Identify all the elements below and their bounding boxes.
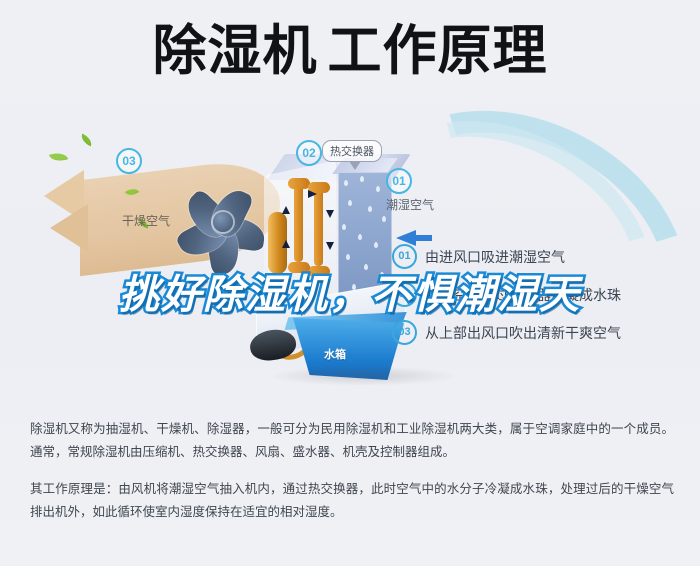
condensation-droplets (338, 172, 392, 300)
copper-pipe (314, 188, 323, 266)
flow-arrow-up-icon (282, 206, 290, 214)
flow-arrow-up-icon (282, 240, 290, 248)
step-text: 由进风口吸进潮湿空气 (425, 247, 565, 267)
machine-floor-shadow (268, 366, 458, 386)
leaf-icon (49, 150, 68, 165)
poster-root: 除湿机工作原理 (0, 0, 700, 566)
step-number-badge: 03 (392, 320, 417, 345)
flow-arrow-down-icon (326, 242, 334, 250)
water-tank-label: 水箱 (324, 346, 346, 362)
leaf-icon (79, 134, 94, 147)
copper-pipe-bend (308, 266, 330, 277)
intake-arrow-tail (414, 235, 432, 241)
moist-air-label: 潮湿空气 (386, 196, 434, 213)
step-number-badge: 01 (392, 244, 417, 269)
copper-pipe (294, 184, 303, 262)
diagram-badge-03: 03 (116, 148, 142, 174)
diagram-badge-02: 02 (296, 140, 322, 166)
steps-list: 01 由进风口吸进潮湿空气 02 潮湿空气经过蒸发器冷凝成水珠 03 从上部出风… (392, 244, 692, 358)
step-text: 潮湿空气经过蒸发器冷凝成水珠 (425, 285, 621, 305)
page-title-text: 除湿机工作原理 (153, 24, 548, 78)
heat-exchanger-callout: 热交换器 (322, 140, 382, 162)
fan-hub (213, 212, 233, 232)
title-part-2: 工作原理 (328, 21, 548, 81)
page-title: 除湿机工作原理 (0, 24, 700, 78)
step-text: 从上部出风口吹出清新干爽空气 (425, 323, 621, 343)
body-paragraph-2: 其工作原理是：由风机将潮湿空气抽入机内，通过热交换器，此时空气中的水分子冷凝成水… (30, 478, 674, 524)
list-item: 03 从上部出风口吹出清新干爽空气 (392, 320, 692, 345)
step-number-badge: 02 (392, 282, 417, 307)
flow-arrow-right-icon (308, 190, 317, 198)
title-part-1: 除湿机 (153, 21, 318, 81)
copper-pipe-bend (288, 262, 310, 273)
body-copy: 除湿机又称为抽湿机、干燥机、除湿器，一般可分为民用除湿机和工业除湿机两大类，属于… (30, 418, 674, 531)
copper-pipe-bend (288, 178, 310, 189)
dry-air-label: 干燥空气 (122, 212, 170, 229)
flow-arrow-down-icon (326, 210, 334, 218)
body-paragraph-1: 除湿机又称为抽湿机、干燥机、除湿器，一般可分为民用除湿机和工业除湿机两大类，属于… (30, 418, 674, 464)
list-item: 02 潮湿空气经过蒸发器冷凝成水珠 (392, 282, 692, 307)
list-item: 01 由进风口吸进潮湿空气 (392, 244, 692, 269)
dry-airflow-arrowhead-bottom (50, 204, 88, 252)
diagram-badge-01: 01 (386, 168, 412, 194)
